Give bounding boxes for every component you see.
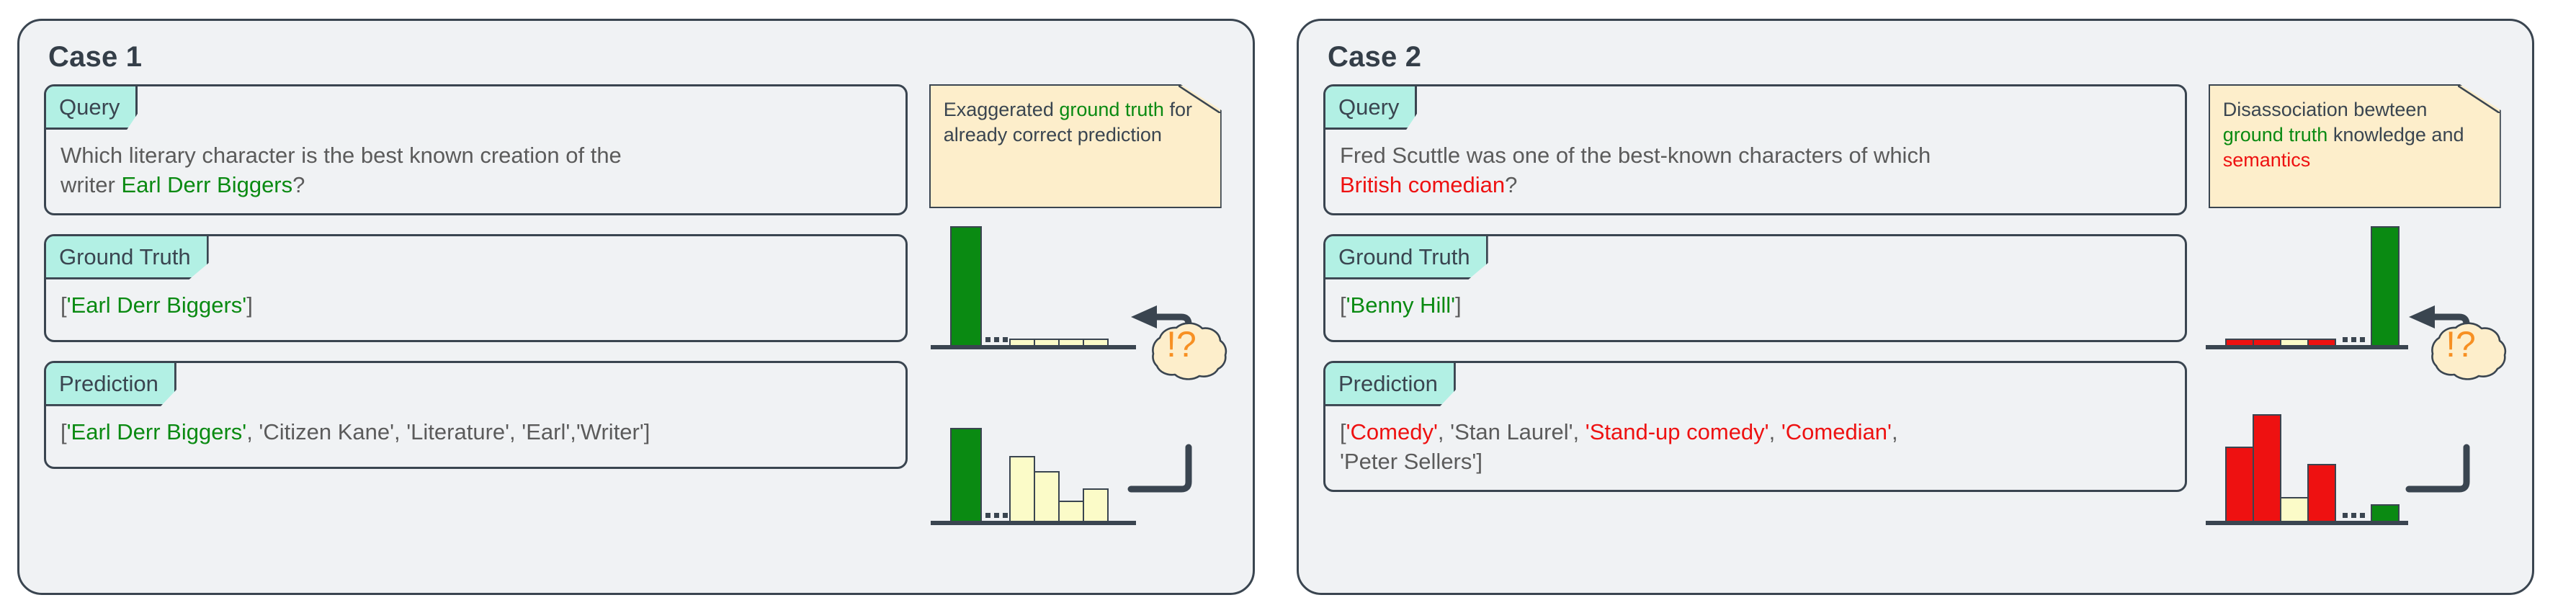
- figure-root: Case 1 Query Which literary character is…: [0, 0, 2576, 613]
- case-1-fields: Query Which literary character is the be…: [44, 84, 908, 469]
- note-highlight2-2: semantics: [2223, 149, 2311, 171]
- pred-bracket-close-1: ]: [644, 419, 650, 444]
- case-body-1: Query Which literary character is the be…: [44, 84, 1230, 568]
- query-tab-wrap-2: Query: [1325, 86, 2185, 130]
- note-fold-icon-1: [1179, 86, 1220, 113]
- gt-bracket-close-2: ]: [1455, 292, 1462, 318]
- note-highlight-2: ground truth: [2223, 124, 2328, 146]
- query-box-1: Query Which literary character is the be…: [44, 84, 908, 215]
- chart-ellipsis: [985, 513, 1008, 518]
- case-panel-1: Case 1 Query Which literary character is…: [17, 19, 1255, 595]
- prediction-tab-label-2: Prediction: [1325, 363, 1456, 406]
- gt-items-2: 'Benny Hill': [1346, 292, 1455, 318]
- case-title-1: Case 1: [48, 42, 1230, 71]
- ground-truth-tab-label-2: Ground Truth: [1325, 236, 1488, 279]
- prediction-tab-label-1: Prediction: [46, 363, 176, 406]
- query-text-1: Which literary character is the best kno…: [46, 130, 905, 213]
- pred-bracket-close-2: ]: [1476, 449, 1482, 474]
- ground-truth-tab-wrap-1: Ground Truth: [46, 236, 905, 279]
- pred-bracket-open-1: [: [61, 419, 67, 444]
- ground-truth-tab-label-1: Ground Truth: [46, 236, 209, 279]
- query-tab-label-2: Query: [1325, 86, 1417, 130]
- ground-truth-text-2: ['Benny Hill']: [1325, 279, 2185, 334]
- chart-ellipsis: [985, 337, 1008, 342]
- query-tab-label-1: Query: [46, 86, 138, 130]
- ground-truth-box-2: Ground Truth ['Benny Hill']: [1323, 234, 2187, 342]
- cloud-text-1: !?: [1166, 324, 1197, 364]
- query-text-after-2: ?: [1505, 172, 1517, 197]
- query-text-after-1: ?: [292, 172, 305, 197]
- gt-bracket-open-1: [: [61, 292, 67, 318]
- thought-cloud-1: !?: [1127, 313, 1235, 465]
- annotation-note-2: Disassociation bewteen ground truth know…: [2209, 84, 2501, 208]
- case-body-2: Query Fred Scuttle was one of the best-k…: [1323, 84, 2509, 568]
- pred-bracket-open-2: [: [1340, 419, 1346, 444]
- query-text-before-2: Fred Scuttle was one of the best-known c…: [1340, 143, 1931, 168]
- prediction-text-2: ['Comedy', 'Stan Laurel', 'Stand-up come…: [1325, 406, 2185, 490]
- gt-bracket-close-1: ]: [246, 292, 253, 318]
- chart-ellipsis: [2343, 513, 2365, 518]
- prediction-box-1: Prediction ['Earl Derr Biggers', 'Citize…: [44, 361, 908, 469]
- case-title-2: Case 2: [1328, 42, 2509, 71]
- prediction-text-1: ['Earl Derr Biggers', 'Citizen Kane', 'L…: [46, 406, 905, 460]
- prediction-tab-wrap-2: Prediction: [1325, 363, 2185, 406]
- prediction-box-2: Prediction ['Comedy', 'Stan Laurel', 'St…: [1323, 361, 2187, 492]
- query-tab-wrap-1: Query: [46, 86, 905, 130]
- pred-first-item-2: 'Comedy': [1346, 419, 1438, 444]
- case-panel-2: Case 2 Query Fred Scuttle was one of the…: [1297, 19, 2534, 595]
- case-2-fields: Query Fred Scuttle was one of the best-k…: [1323, 84, 2187, 492]
- cloud-text-2: !?: [2446, 324, 2476, 364]
- note-fold-icon-2: [2458, 86, 2500, 113]
- case-2-visuals: Disassociation bewteen ground truth know…: [2203, 84, 2509, 568]
- pred-rest-items-1: , 'Citizen Kane', 'Literature', 'Earl','…: [246, 419, 644, 444]
- chart-ellipsis: [2343, 337, 2365, 342]
- gt-items-1: 'Earl Derr Biggers': [67, 292, 247, 318]
- pred-first-item-1: 'Earl Derr Biggers': [67, 419, 247, 444]
- ground-truth-box-1: Ground Truth ['Earl Derr Biggers']: [44, 234, 908, 342]
- note-part1-2: Disassociation bewteen: [2223, 99, 2428, 120]
- note-part1-1: Exaggerated: [944, 99, 1060, 120]
- query-highlight-2: British comedian: [1340, 172, 1505, 197]
- case-1-visuals: Exaggerated ground truth for already cor…: [923, 84, 1230, 568]
- ground-truth-text-1: ['Earl Derr Biggers']: [46, 279, 905, 334]
- ground-truth-tab-wrap-2: Ground Truth: [1325, 236, 2185, 279]
- prediction-tab-wrap-1: Prediction: [46, 363, 905, 406]
- annotation-note-1: Exaggerated ground truth for already cor…: [929, 84, 1222, 208]
- query-highlight-1: Earl Derr Biggers: [121, 172, 292, 197]
- thought-cloud-2: !?: [2407, 313, 2515, 465]
- query-box-2: Query Fred Scuttle was one of the best-k…: [1323, 84, 2187, 215]
- gt-bracket-open-2: [: [1340, 292, 1346, 318]
- note-part2-2: knowledge and: [2327, 124, 2464, 146]
- note-highlight-1: ground truth: [1059, 99, 1164, 120]
- query-text-2: Fred Scuttle was one of the best-known c…: [1325, 130, 2185, 213]
